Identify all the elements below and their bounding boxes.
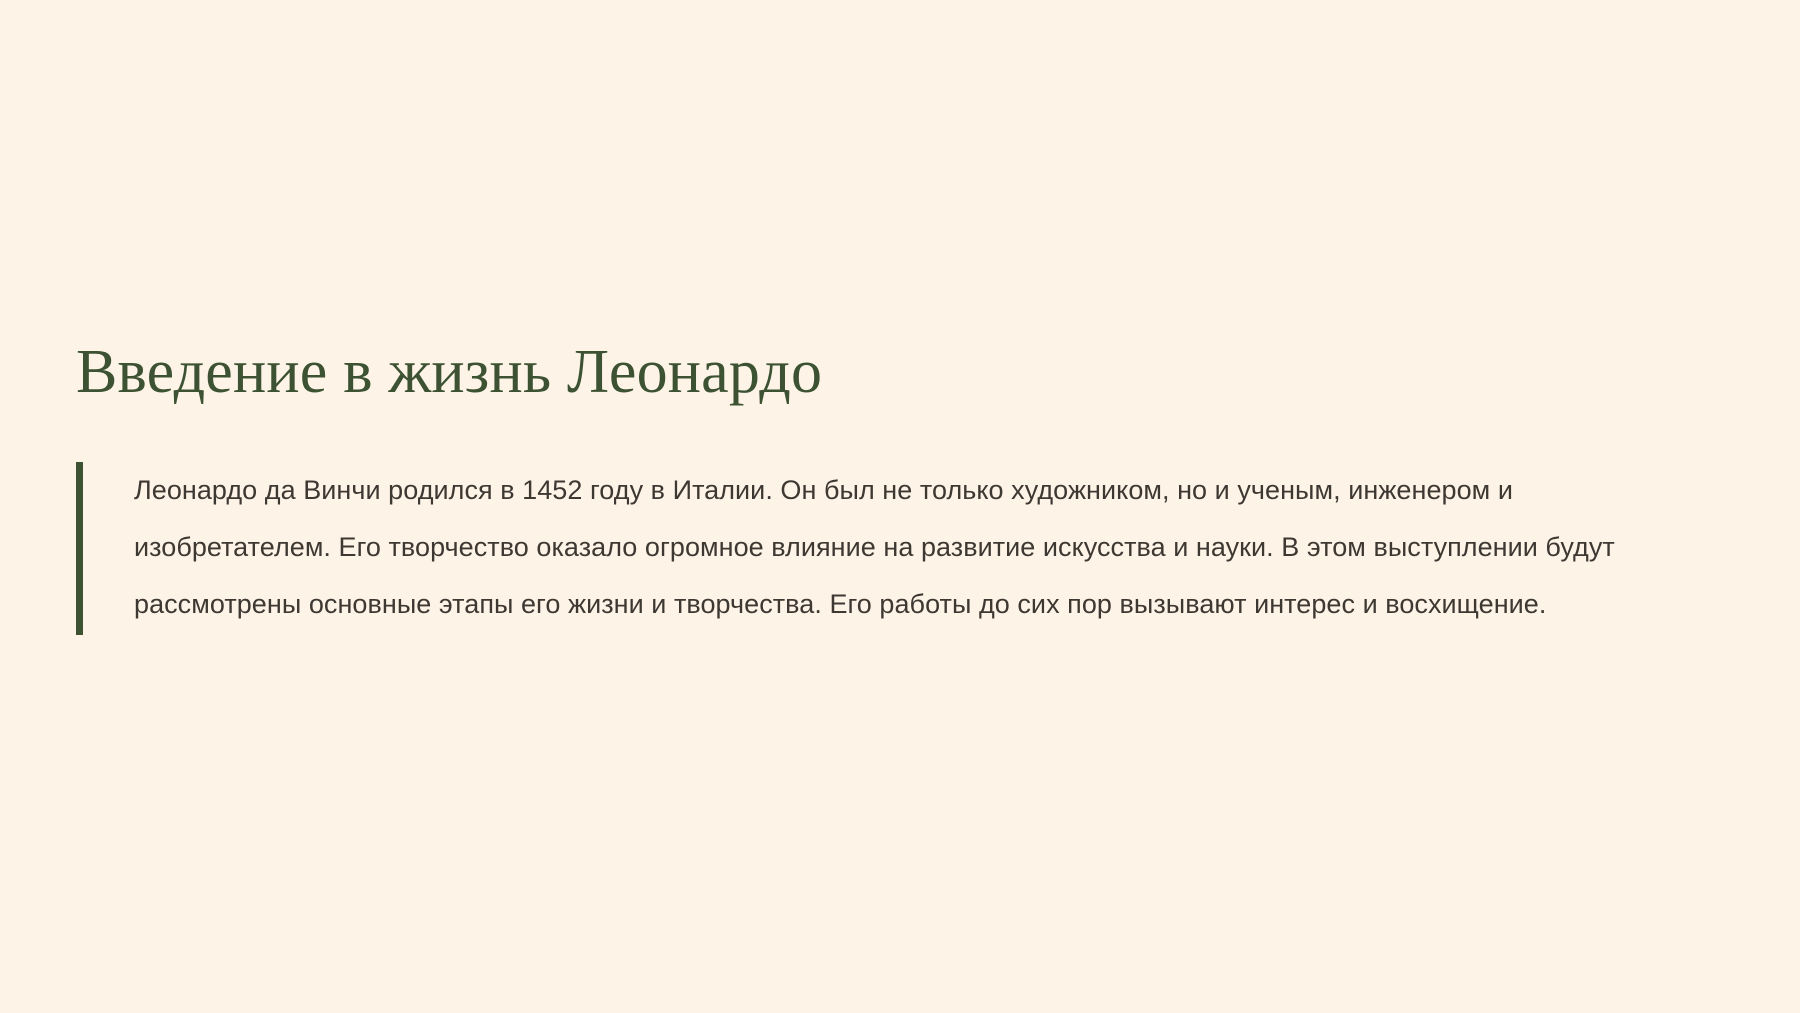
page-title: Введение в жизнь Леонардо xyxy=(76,340,1716,406)
body-text-container: Леонардо да Винчи родился в 1452 году в … xyxy=(83,462,1716,635)
body-paragraph: Леонардо да Винчи родился в 1452 году в … xyxy=(134,462,1716,633)
slide-canvas: Введение в жизнь Леонардо Леонардо да Ви… xyxy=(0,0,1800,1013)
body-quote-block: Леонардо да Винчи родился в 1452 году в … xyxy=(76,462,1716,635)
accent-bar xyxy=(76,462,83,635)
